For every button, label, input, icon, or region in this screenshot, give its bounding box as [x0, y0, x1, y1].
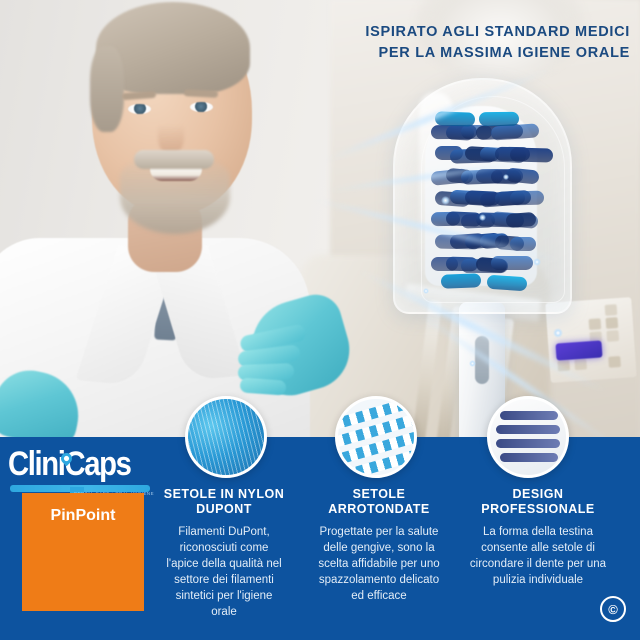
sparkle	[479, 214, 486, 221]
bristle-tuft-accent	[479, 112, 519, 126]
bristle-tuft-accent	[487, 275, 528, 292]
brand-name: CliniCaps	[8, 447, 135, 481]
sparkle	[441, 196, 450, 205]
bristle-tuft	[510, 191, 544, 206]
feature-1: SETOLE IN NYLON DUPONT Filamenti DuPont,…	[163, 487, 285, 620]
feature-3-title: DESIGN PROFESSIONALE	[468, 487, 608, 517]
feature-3-body: La forma della testina consente alle set…	[468, 524, 608, 588]
copyright-icon: ©	[600, 596, 626, 622]
sparkle	[423, 288, 429, 294]
brush-head-design-icon	[487, 396, 569, 478]
sparkle	[533, 258, 541, 266]
eye-left	[128, 104, 151, 114]
nylon-filaments-icon	[185, 396, 267, 478]
nose	[158, 112, 184, 154]
bristle-tuft-accent	[441, 273, 482, 289]
panel-key	[608, 356, 621, 368]
sparkle	[553, 328, 563, 338]
product-badge: PinPoint	[22, 493, 144, 611]
sparkle	[469, 360, 476, 367]
panel-key	[605, 317, 618, 329]
product-badge-label: PinPoint	[22, 507, 144, 525]
feature-2-body: Progettate per la salute delle gengive, …	[315, 524, 443, 604]
sparkle	[503, 174, 509, 180]
feature-1-body: Filamenti DuPont, riconosciuti come l'ap…	[163, 524, 285, 620]
bristle-tuft	[505, 167, 539, 184]
rounded-bristles-icon	[335, 396, 417, 478]
bristle-tuft	[491, 256, 533, 270]
feature-2: SETOLE ARROTONDATE Progettate per la sal…	[315, 487, 443, 604]
eye-right	[190, 102, 213, 112]
bristle-tuft	[510, 147, 553, 162]
moustache	[134, 150, 214, 169]
panel-key	[606, 330, 619, 342]
feature-3: DESIGN PROFESSIONALE La forma della test…	[468, 487, 608, 588]
brand-logo[interactable]: CliniCaps DENTAL CARE • ORAL HYGIENE	[8, 447, 156, 481]
hair-side	[90, 46, 124, 132]
headline: ISPIRATO AGLI STANDARD MEDICI PER LA MAS…	[310, 22, 630, 64]
advertisement-banner: ISPIRATO AGLI STANDARD MEDICI PER LA MAS…	[0, 0, 640, 640]
headline-line-2: PER LA MASSIMA IGIENE ORALE	[310, 43, 630, 64]
product-image	[383, 78, 603, 450]
feature-1-title: SETOLE IN NYLON DUPONT	[163, 487, 285, 517]
feature-2-title: SETOLE ARROTONDATE	[315, 487, 443, 517]
panel-key	[605, 304, 618, 316]
headline-line-1: ISPIRATO AGLI STANDARD MEDICI	[310, 22, 630, 43]
glove-finger	[240, 377, 287, 395]
